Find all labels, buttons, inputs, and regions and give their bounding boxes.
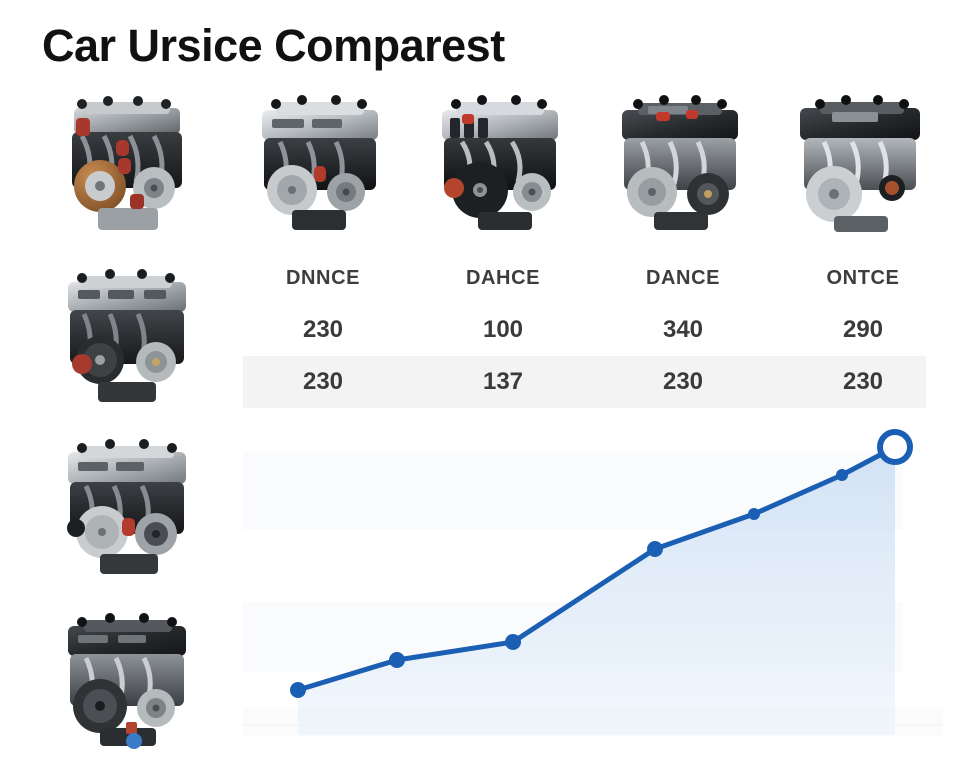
engine-icon: [780, 88, 940, 248]
table-header-row: DNNCE DAHCE DANCE ONTCE: [243, 252, 926, 304]
chart-data-point[interactable]: [748, 508, 760, 520]
table-header-cell: ONTCE: [783, 252, 943, 304]
engine-icon: [600, 88, 760, 248]
engine-icon: [38, 432, 216, 602]
engine-column-item[interactable]: [240, 88, 400, 248]
chart-data-point[interactable]: [505, 634, 521, 650]
chart-data-point[interactable]: [290, 682, 306, 698]
engine-column-row: [240, 88, 940, 248]
comparison-table: DNNCE DAHCE DANCE ONTCE 230 100 340 290 …: [243, 252, 926, 408]
page-title: Car Ursice Comparest: [42, 22, 505, 69]
table-cell: 340: [603, 304, 763, 356]
chart-data-point[interactable]: [836, 469, 848, 481]
trend-line-chart[interactable]: [243, 412, 943, 760]
engine-icon: [240, 88, 400, 248]
chart-data-point[interactable]: [647, 541, 663, 557]
engine-icon: [420, 88, 580, 248]
engine-thumbnail[interactable]: [38, 432, 216, 602]
table-header-cell: DANCE: [603, 252, 763, 304]
page-root: Car Ursice Comparest: [0, 0, 960, 768]
engine-icon: [38, 260, 216, 430]
engine-icon: [38, 604, 216, 768]
table-row: 230 100 340 290: [243, 304, 926, 356]
chart-svg: [243, 412, 943, 760]
table-cell: 230: [243, 304, 403, 356]
engine-column-item[interactable]: [780, 88, 940, 248]
table-cell: 230: [783, 356, 943, 408]
table-cell: 230: [603, 356, 763, 408]
table-header-cell: DAHCE: [423, 252, 583, 304]
engine-thumbnail[interactable]: [38, 88, 216, 258]
chart-data-point[interactable]: [389, 652, 405, 668]
engine-column-item[interactable]: [420, 88, 580, 248]
table-row: 230 137 230 230: [243, 356, 926, 408]
table-cell: 137: [423, 356, 583, 408]
engine-column-item[interactable]: [600, 88, 760, 248]
table-cell: 230: [243, 356, 403, 408]
table-cell: 100: [423, 304, 583, 356]
engine-thumbnail[interactable]: [38, 260, 216, 430]
table-header-cell: DNNCE: [243, 252, 403, 304]
table-cell: 290: [783, 304, 943, 356]
chart-end-marker[interactable]: [880, 432, 910, 462]
engine-icon: [38, 88, 216, 258]
engine-thumbnail[interactable]: [38, 604, 216, 768]
engine-thumbnail-rail: [38, 88, 216, 768]
